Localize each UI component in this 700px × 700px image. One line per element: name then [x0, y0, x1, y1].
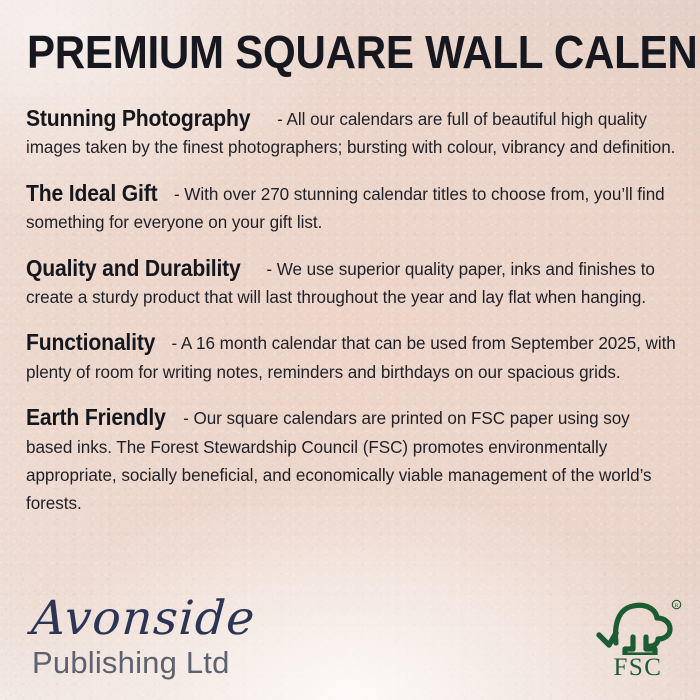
feature-heading: Quality and Durability — [26, 254, 241, 282]
feature-paragraph: Quality and Durability - We use superior… — [26, 254, 678, 313]
svg-text:R: R — [675, 603, 679, 609]
brand-logo: Avonside Publishing Ltd — [30, 595, 254, 678]
feature-dash: - — [178, 409, 193, 428]
fsc-certification-badge: R FSC — [592, 599, 684, 683]
feature-heading: The Ideal Gift — [26, 179, 157, 207]
brand-name: Avonside — [30, 595, 257, 642]
page-title: PREMIUM SQUARE WALL CALENDARS — [27, 29, 700, 75]
feature-item-functionality: Functionality - A 16 month calendar that… — [26, 328, 678, 387]
fsc-tree-checkmark-icon: R — [592, 599, 684, 655]
feature-heading: Stunning Photography — [26, 104, 250, 132]
feature-list: Stunning Photography - All our calendars… — [26, 104, 678, 519]
feature-paragraph: The Ideal Gift - With over 270 stunning … — [26, 179, 678, 238]
feature-heading: Earth Friendly — [26, 403, 166, 431]
feature-paragraph: Stunning Photography - All our calendars… — [26, 104, 678, 163]
feature-item-earth-friendly: Earth Friendly - Our square calendars ar… — [26, 403, 678, 519]
feature-dash: - — [272, 110, 286, 129]
feature-dash: - — [262, 260, 277, 279]
feature-heading: Functionality — [26, 328, 155, 356]
feature-item-quality-and-durability: Quality and Durability - We use superior… — [26, 254, 678, 313]
feature-paragraph: Functionality - A 16 month calendar that… — [26, 328, 678, 387]
feature-paragraph: Earth Friendly - Our square calendars ar… — [26, 403, 678, 519]
feature-dash: - — [167, 334, 181, 353]
brand-subtitle: Publishing Ltd — [32, 647, 254, 678]
feature-item-stunning-photography: Stunning Photography - All our calendars… — [26, 104, 678, 163]
poster-content: PREMIUM SQUARE WALL CALENDARS Stunning P… — [0, 0, 700, 700]
fsc-label: FSC — [592, 654, 684, 682]
feature-item-the-ideal-gift: The Ideal Gift - With over 270 stunning … — [26, 179, 678, 238]
feature-dash: - — [169, 185, 184, 204]
